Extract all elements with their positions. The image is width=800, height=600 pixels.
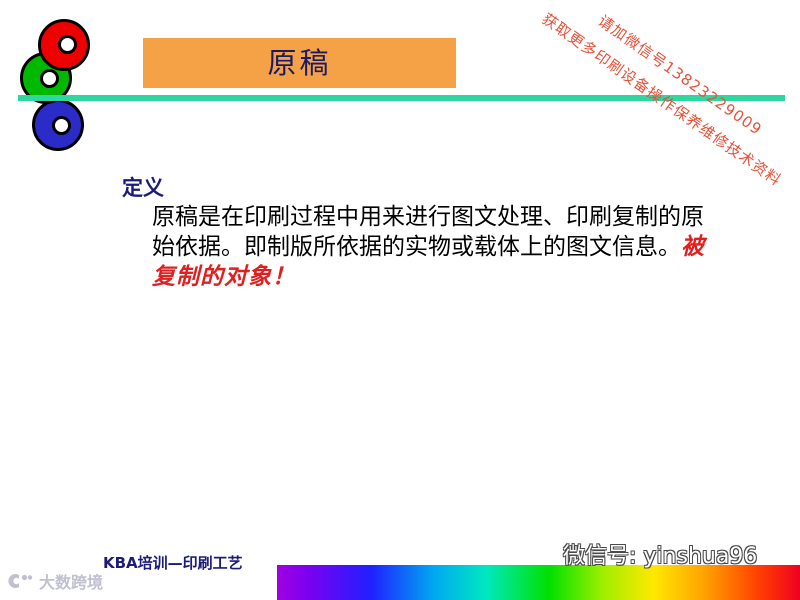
rainbow-gradient-bar xyxy=(277,565,800,600)
blue-ring-hole xyxy=(52,116,71,135)
slide-title-banner: 原稿 xyxy=(143,38,456,88)
slide-title: 原稿 xyxy=(267,49,331,78)
red-ring-hole xyxy=(58,35,77,54)
header-divider xyxy=(18,95,785,101)
logo-text: 大数跨境 xyxy=(39,569,103,593)
logo-mark-icon xyxy=(6,571,34,591)
definition-text: 原稿是在印刷过程中用来进行图文处理、印刷复制的原始依据。即制版所依据的实物或载体… xyxy=(152,204,704,260)
watermark-line-2: 请加微信号13823229009 xyxy=(594,10,767,140)
wechat-id-watermark: 微信号: yinshua96 xyxy=(563,538,757,570)
definition-paragraph: 原稿是在印刷过程中用来进行图文处理、印刷复制的原始依据。即制版所依据的实物或载体… xyxy=(120,202,720,292)
slide-canvas: 原稿 定义 原稿是在印刷过程中用来进行图文处理、印刷复制的原始依据。即制版所依据… xyxy=(0,0,800,600)
footer-label: KBA培训—印刷工艺 xyxy=(103,552,243,573)
slide-body: 定义 原稿是在印刷过程中用来进行图文处理、印刷复制的原始依据。即制版所依据的实物… xyxy=(120,176,720,292)
section-heading: 定义 xyxy=(122,176,720,200)
green-ring-hole xyxy=(40,69,59,88)
corner-logo-watermark: 大数跨境 xyxy=(6,569,103,593)
